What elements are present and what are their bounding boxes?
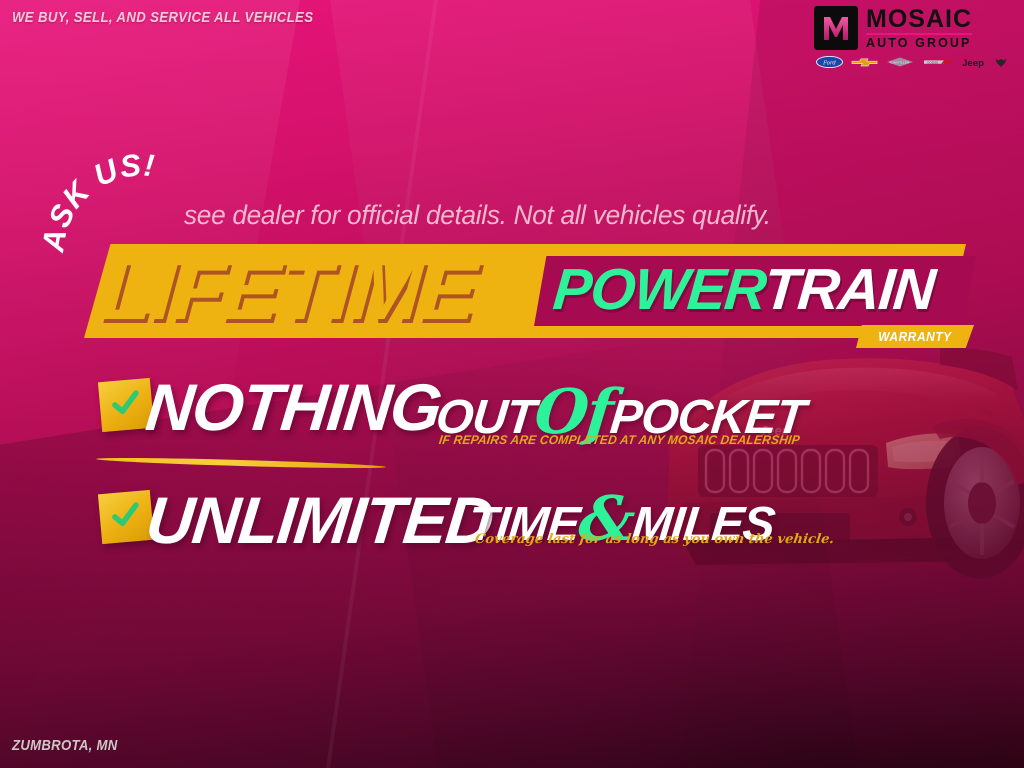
dealer-logo[interactable]: MOSAIC AUTO GROUP Ford CHRYSLER bbox=[814, 6, 1010, 68]
svg-text:CHRYSLER: CHRYSLER bbox=[890, 60, 910, 64]
chrysler-badge-icon: CHRYSLER bbox=[885, 55, 915, 68]
headline-power: POWER bbox=[551, 257, 767, 322]
advertisement-canvas: Jeep W bbox=[0, 0, 1024, 768]
warranty-label: WARRANTY bbox=[878, 329, 952, 344]
brand-badge-row: Ford CHRYSLER DODGE bbox=[814, 55, 1010, 68]
gold-divider bbox=[96, 456, 386, 470]
jeep-badge-icon: Jeep bbox=[960, 55, 986, 68]
svg-text:Ford: Ford bbox=[822, 60, 836, 66]
ford-badge-icon: Ford bbox=[816, 55, 843, 68]
mosaic-m-icon bbox=[814, 6, 858, 50]
logo-name-secondary: AUTO GROUP bbox=[866, 33, 972, 50]
vehicle-image-jeep-compass: Jeep bbox=[640, 335, 1024, 625]
svg-text:Jeep: Jeep bbox=[962, 57, 984, 67]
disclaimer-text: see dealer for official details. Not all… bbox=[184, 200, 771, 231]
benefit-1-main: NOTHING bbox=[143, 374, 444, 440]
benefit-2-fineprint: Coverage last for as long as you own the… bbox=[474, 532, 835, 547]
headline-train: TRAIN bbox=[761, 257, 936, 322]
chevrolet-badge-icon bbox=[851, 55, 878, 68]
header-tagline: WE BUY, SELL, AND SERVICE ALL VEHICLES bbox=[12, 9, 313, 26]
headline-powertrain: POWERTRAIN bbox=[551, 261, 936, 319]
headline-lifetime: LIFETIME bbox=[98, 248, 478, 332]
ask-us-text: ASK US! bbox=[35, 147, 157, 255]
logo-name-primary: MOSAIC bbox=[866, 7, 972, 32]
svg-text:DODGE: DODGE bbox=[927, 60, 938, 64]
benefit-1-fineprint: IF REPAIRS ARE COMPLETED AT ANY MOSAIC D… bbox=[438, 433, 801, 447]
dodge-badge-icon: DODGE bbox=[923, 55, 953, 68]
warranty-tab: WARRANTY bbox=[856, 325, 974, 348]
benefit-2-main: UNLIMITED bbox=[143, 487, 496, 553]
ram-badge-icon bbox=[994, 55, 1008, 68]
svg-text:ASK US!: ASK US! bbox=[35, 147, 157, 255]
footer-location: ZUMBROTA, MN bbox=[12, 737, 118, 754]
